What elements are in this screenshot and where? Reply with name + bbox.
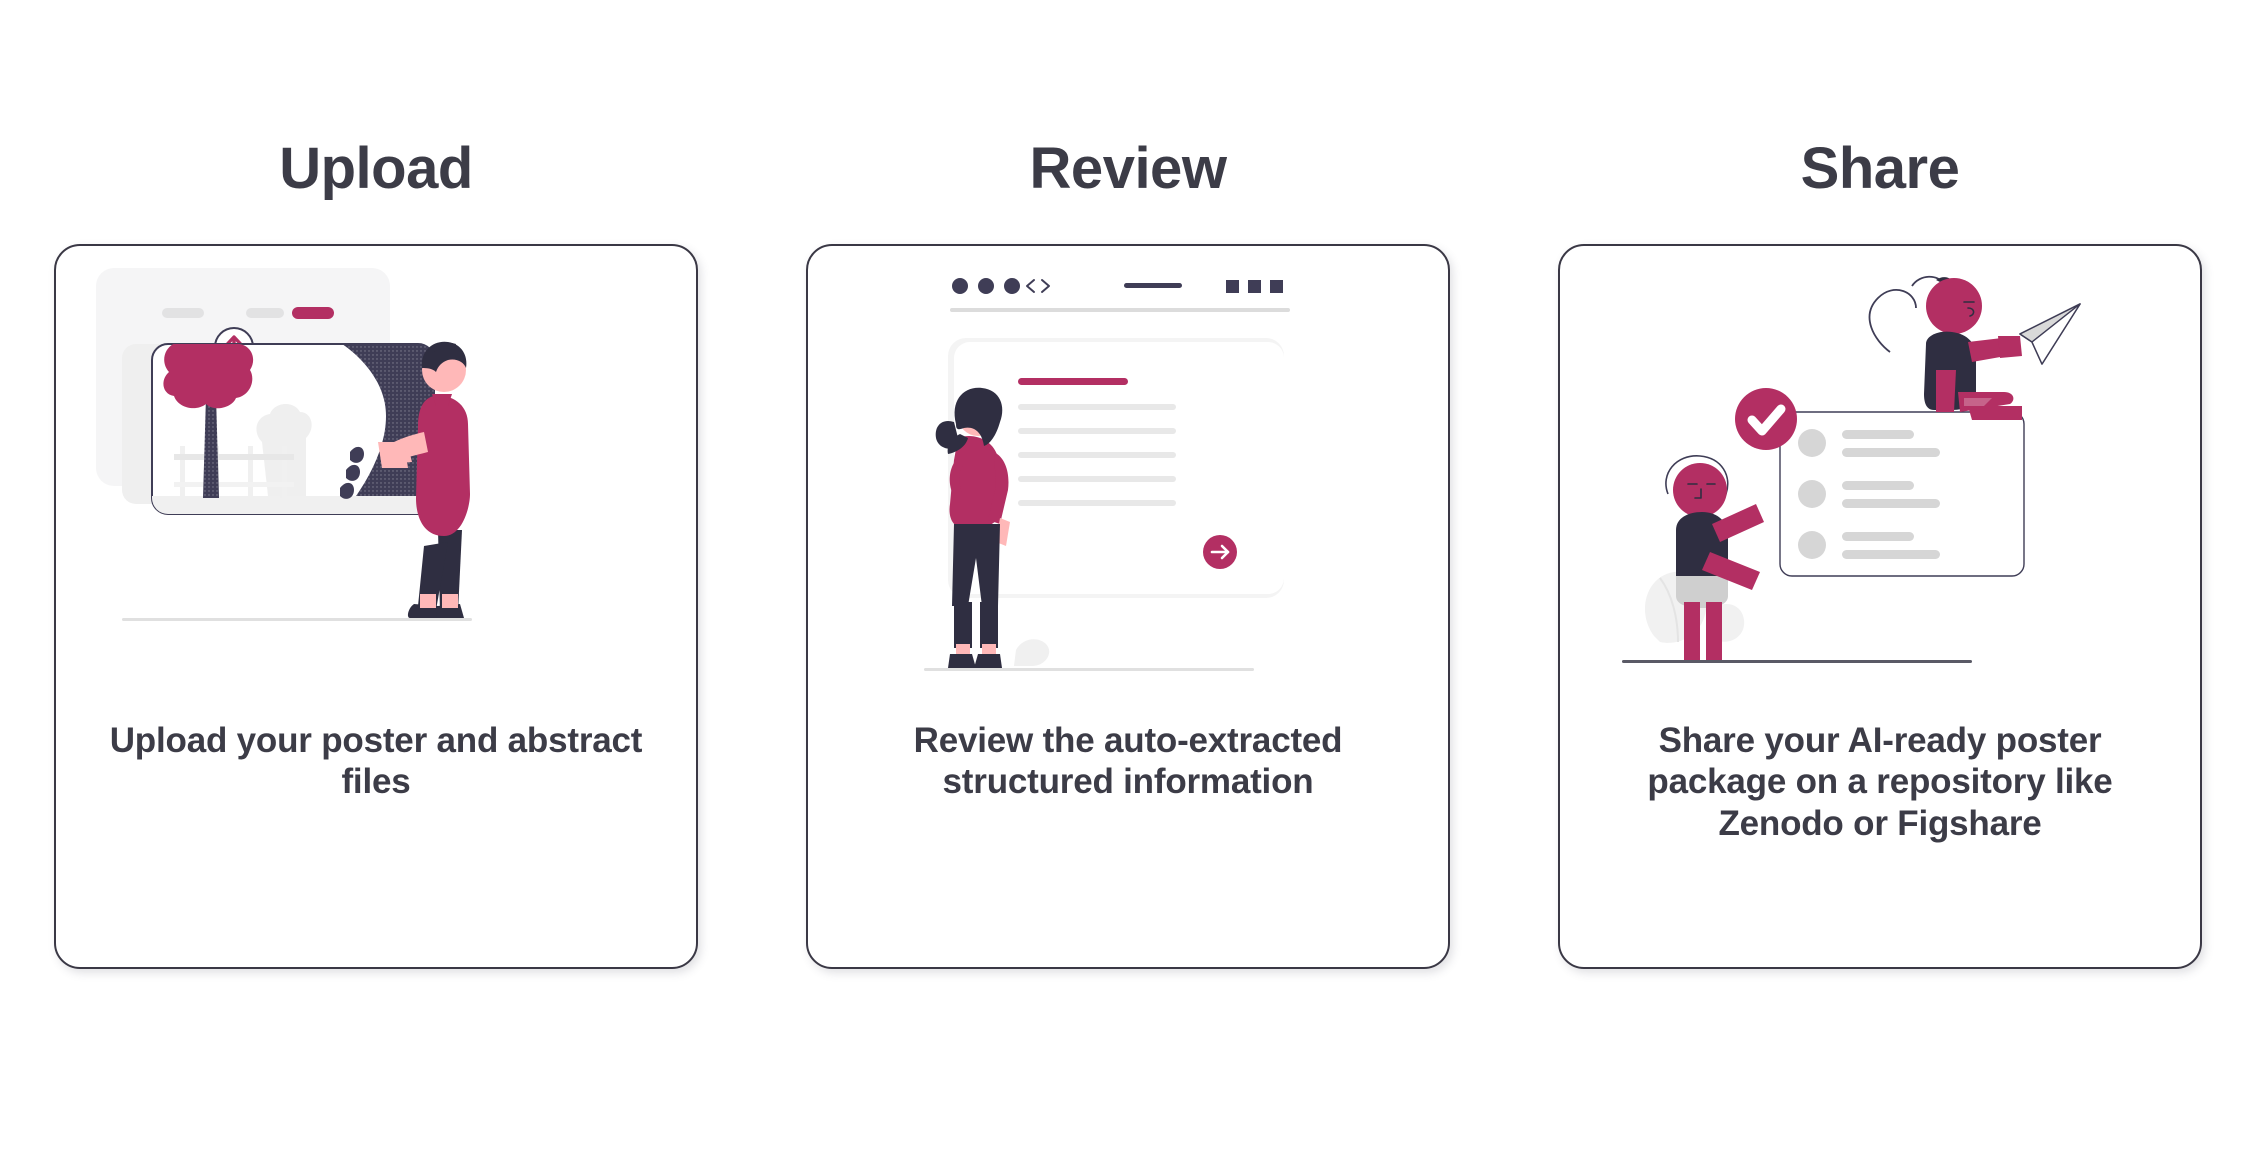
step-caption-upload: Upload your poster and abstract files bbox=[96, 720, 656, 803]
step-card-review[interactable]: Review the auto-extracted structured inf… bbox=[806, 244, 1450, 969]
review-illustration-svg bbox=[808, 246, 1448, 716]
step-title-share: Share bbox=[1801, 140, 1960, 198]
step-title-upload: Upload bbox=[279, 140, 473, 198]
ground-line bbox=[122, 618, 472, 621]
list-bullets bbox=[1798, 429, 1826, 559]
browser-toolbar-dots bbox=[952, 278, 1020, 294]
browser-toolbar-bar bbox=[1124, 283, 1182, 288]
photo-card-with-tree bbox=[152, 330, 434, 514]
document-accent-heading-line bbox=[1018, 378, 1128, 385]
browser-toolbar-squares bbox=[1226, 280, 1283, 293]
check-badge bbox=[1735, 388, 1797, 450]
step-review: Review bbox=[806, 140, 1450, 969]
step-title-review: Review bbox=[1030, 140, 1227, 198]
step-upload: Upload bbox=[54, 140, 698, 969]
share-illustration-svg bbox=[1560, 246, 2200, 716]
step-caption-share: Share your AI-ready poster package on a … bbox=[1600, 720, 2160, 844]
step-caption-review: Review the auto-extracted structured inf… bbox=[848, 720, 1408, 803]
floor-shadow bbox=[1014, 639, 1049, 666]
step-share: Share bbox=[1558, 140, 2202, 969]
person-throwing-paper-plane bbox=[1870, 277, 2022, 420]
upload-illustration-svg bbox=[56, 246, 696, 716]
next-arrow-button[interactable] bbox=[1203, 535, 1237, 569]
review-illustration bbox=[808, 246, 1448, 716]
steps-row: Upload bbox=[0, 0, 2256, 1172]
browser-toolbar-divider bbox=[950, 308, 1290, 312]
ground-line bbox=[1622, 660, 1972, 663]
upload-illustration bbox=[56, 246, 696, 716]
step-card-share[interactable]: Share your AI-ready poster package on a … bbox=[1558, 244, 2202, 969]
paper-plane bbox=[2020, 304, 2080, 364]
share-illustration bbox=[1560, 246, 2200, 716]
browser-toolbar-code-glyph bbox=[1027, 280, 1049, 292]
ground-line bbox=[924, 668, 1254, 671]
step-card-upload[interactable]: Upload your poster and abstract files bbox=[54, 244, 698, 969]
